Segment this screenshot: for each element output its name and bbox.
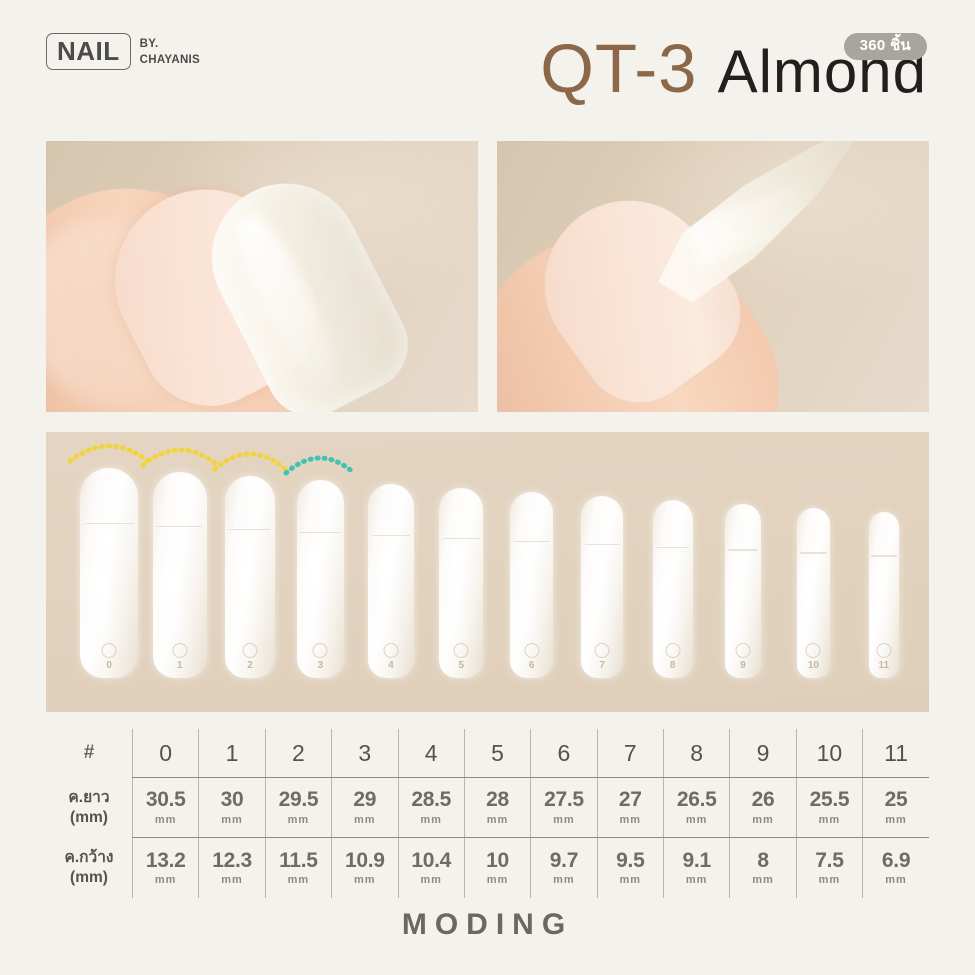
cell-3: 10.9mm bbox=[332, 838, 398, 898]
cell-2: 29.5mm bbox=[265, 778, 331, 838]
cell-value: 8 bbox=[730, 850, 795, 872]
header-hash: # bbox=[46, 729, 133, 778]
nail-tip-emboss-mark bbox=[665, 643, 680, 658]
cell-unit: mm bbox=[598, 814, 663, 826]
nail-tip-size-label: 11 bbox=[869, 660, 899, 671]
cell-7: 9.5mm bbox=[597, 838, 663, 898]
cell-unit: mm bbox=[266, 814, 331, 826]
cell-1: 12.3mm bbox=[199, 838, 265, 898]
highlight-arc-yellow bbox=[212, 446, 289, 472]
cell-6: 9.7mm bbox=[531, 838, 597, 898]
row-label-line2: (mm) bbox=[46, 868, 132, 887]
cell-value: 9.7 bbox=[531, 850, 596, 872]
cell-value: 28.5 bbox=[399, 789, 464, 811]
table-row: ค.กว้าง(mm)13.2mm12.3mm11.5mm10.9mm10.4m… bbox=[46, 838, 929, 898]
size-chart-table: # 01234567891011 ค.ยาว(mm)30.5mm30mm29.5… bbox=[46, 729, 929, 898]
cell-1: 30mm bbox=[199, 778, 265, 838]
nail-tip-size-label: 4 bbox=[368, 660, 414, 671]
cell-value: 29.5 bbox=[266, 789, 331, 811]
cell-8: 26.5mm bbox=[664, 778, 730, 838]
logo-byline-name: CHAYANIS bbox=[140, 53, 200, 69]
cell-value: 25.5 bbox=[797, 789, 862, 811]
nail-tip-emboss-mark bbox=[243, 643, 258, 658]
cell-9: 26mm bbox=[730, 778, 796, 838]
nail-tips-row: 01234567891011 bbox=[74, 458, 919, 678]
cell-value: 25 bbox=[863, 789, 929, 811]
cell-unit: mm bbox=[199, 814, 264, 826]
nail-tip-size-label: 3 bbox=[297, 660, 345, 671]
cell-unit: mm bbox=[664, 874, 729, 886]
cell-value: 27 bbox=[598, 789, 663, 811]
nail-tip-1: 1 bbox=[153, 472, 207, 678]
cell-value: 26 bbox=[730, 789, 795, 811]
column-header-5: 5 bbox=[464, 729, 530, 778]
cell-unit: mm bbox=[598, 874, 663, 886]
cell-value: 29 bbox=[332, 789, 397, 811]
column-header-8: 8 bbox=[664, 729, 730, 778]
cell-unit: mm bbox=[531, 814, 596, 826]
table-row: ค.ยาว(mm)30.5mm30mm29.5mm29mm28.5mm28mm2… bbox=[46, 778, 929, 838]
cell-unit: mm bbox=[863, 814, 929, 826]
cell-11: 6.9mm bbox=[863, 838, 929, 898]
nail-tip-size-label: 8 bbox=[653, 660, 693, 671]
cell-value: 10.4 bbox=[399, 850, 464, 872]
nail-tip-emboss-mark bbox=[454, 643, 469, 658]
logo-text: NAIL bbox=[46, 33, 131, 70]
nail-tip-5: 5 bbox=[439, 488, 483, 678]
cell-unit: mm bbox=[730, 814, 795, 826]
column-header-4: 4 bbox=[398, 729, 464, 778]
nail-tip-emboss-mark bbox=[806, 643, 821, 658]
row-label-line1: ค.กว้าง bbox=[46, 848, 132, 867]
cell-6: 27.5mm bbox=[531, 778, 597, 838]
cell-unit: mm bbox=[399, 874, 464, 886]
column-header-1: 1 bbox=[199, 729, 265, 778]
nail-tip-11: 11 bbox=[869, 512, 899, 678]
logo-byline: BY. CHAYANIS bbox=[140, 37, 200, 68]
column-header-2: 2 bbox=[265, 729, 331, 778]
cell-0: 13.2mm bbox=[133, 838, 199, 898]
nail-tip-10: 10 bbox=[797, 508, 830, 678]
cell-unit: mm bbox=[133, 874, 198, 886]
nail-tip-size-label: 2 bbox=[225, 660, 276, 671]
cell-unit: mm bbox=[266, 874, 331, 886]
row-label: ค.ยาว(mm) bbox=[46, 778, 133, 838]
nail-tip-emboss-mark bbox=[876, 643, 891, 658]
page-header: NAIL BY. CHAYANIS QT-3 Almond 360 ชิ้น bbox=[0, 0, 975, 132]
column-header-11: 11 bbox=[863, 729, 929, 778]
cell-unit: mm bbox=[332, 874, 397, 886]
photo-almond-tip-side-view bbox=[497, 141, 929, 412]
cell-0: 30.5mm bbox=[133, 778, 199, 838]
cell-8: 9.1mm bbox=[664, 838, 730, 898]
cell-unit: mm bbox=[465, 814, 530, 826]
cell-4: 28.5mm bbox=[398, 778, 464, 838]
cell-unit: mm bbox=[332, 814, 397, 826]
cell-unit: mm bbox=[797, 814, 862, 826]
nail-tip-size-label: 9 bbox=[725, 660, 760, 671]
column-header-10: 10 bbox=[796, 729, 862, 778]
cell-value: 7.5 bbox=[797, 850, 862, 872]
logo-byline-prefix: BY. bbox=[140, 37, 200, 53]
cell-4: 10.4mm bbox=[398, 838, 464, 898]
nail-tip-8: 8 bbox=[653, 500, 693, 678]
cell-value: 11.5 bbox=[266, 850, 331, 872]
cell-unit: mm bbox=[399, 814, 464, 826]
nail-tip-6: 6 bbox=[510, 492, 553, 678]
cell-value: 26.5 bbox=[664, 789, 729, 811]
nail-tip-7: 7 bbox=[581, 496, 623, 678]
cell-value: 30 bbox=[199, 789, 264, 811]
nail-tip-2: 2 bbox=[225, 476, 276, 678]
cell-value: 12.3 bbox=[199, 850, 264, 872]
nail-tips-panel: 01234567891011 bbox=[46, 432, 929, 712]
nail-tip-size-label: 10 bbox=[797, 660, 830, 671]
row-label-line1: ค.ยาว bbox=[46, 788, 132, 807]
nail-tip-size-label: 6 bbox=[510, 660, 553, 671]
cell-unit: mm bbox=[797, 874, 862, 886]
nail-tip-size-label: 7 bbox=[581, 660, 623, 671]
cell-value: 28 bbox=[465, 789, 530, 811]
cell-unit: mm bbox=[664, 814, 729, 826]
nail-tip-4: 4 bbox=[368, 484, 414, 678]
brand-logo: NAIL BY. CHAYANIS bbox=[46, 33, 200, 70]
cell-unit: mm bbox=[730, 874, 795, 886]
cell-11: 25mm bbox=[863, 778, 929, 838]
photo-almond-tip-front-view bbox=[46, 141, 478, 412]
highlight-arc-yellow bbox=[67, 438, 151, 464]
cell-5: 10mm bbox=[464, 838, 530, 898]
table-header-row: # 01234567891011 bbox=[46, 729, 929, 778]
row-label-line2: (mm) bbox=[46, 808, 132, 827]
nail-tip-0: 0 bbox=[80, 468, 138, 678]
cell-value: 10 bbox=[465, 850, 530, 872]
nail-tip-emboss-mark bbox=[595, 643, 610, 658]
cell-value: 9.1 bbox=[664, 850, 729, 872]
quantity-badge: 360 ชิ้น bbox=[844, 33, 927, 60]
cell-unit: mm bbox=[133, 814, 198, 826]
nail-tip-emboss-mark bbox=[735, 643, 750, 658]
size-chart-head: # 01234567891011 bbox=[46, 729, 929, 778]
column-header-3: 3 bbox=[332, 729, 398, 778]
footer-brand: MODING bbox=[0, 908, 975, 942]
column-header-9: 9 bbox=[730, 729, 796, 778]
highlight-arc-teal bbox=[284, 450, 358, 476]
nail-tip-emboss-mark bbox=[172, 643, 187, 658]
column-header-7: 7 bbox=[597, 729, 663, 778]
cell-value: 9.5 bbox=[598, 850, 663, 872]
nail-tip-emboss-mark bbox=[313, 643, 328, 658]
cell-10: 25.5mm bbox=[796, 778, 862, 838]
cell-value: 10.9 bbox=[332, 850, 397, 872]
nail-tip-size-label: 0 bbox=[80, 660, 138, 671]
column-header-6: 6 bbox=[531, 729, 597, 778]
cell-3: 29mm bbox=[332, 778, 398, 838]
cell-value: 30.5 bbox=[133, 789, 198, 811]
cell-7: 27mm bbox=[597, 778, 663, 838]
cell-10: 7.5mm bbox=[796, 838, 862, 898]
cell-unit: mm bbox=[531, 874, 596, 886]
row-label: ค.กว้าง(mm) bbox=[46, 838, 133, 898]
cell-value: 13.2 bbox=[133, 850, 198, 872]
nail-tip-size-label: 5 bbox=[439, 660, 483, 671]
nail-tip-3: 3 bbox=[297, 480, 345, 678]
column-header-0: 0 bbox=[133, 729, 199, 778]
size-chart: # 01234567891011 ค.ยาว(mm)30.5mm30mm29.5… bbox=[46, 729, 929, 898]
cell-2: 11.5mm bbox=[265, 838, 331, 898]
cell-value: 6.9 bbox=[863, 850, 929, 872]
highlight-arc-yellow bbox=[140, 442, 220, 468]
cell-value: 27.5 bbox=[531, 789, 596, 811]
cell-unit: mm bbox=[199, 874, 264, 886]
size-chart-body: ค.ยาว(mm)30.5mm30mm29.5mm29mm28.5mm28mm2… bbox=[46, 778, 929, 898]
cell-9: 8mm bbox=[730, 838, 796, 898]
nail-tip-emboss-mark bbox=[383, 643, 398, 658]
nail-tip-emboss-mark bbox=[524, 643, 539, 658]
product-code: QT-3 bbox=[540, 34, 697, 103]
nail-tip-size-label: 1 bbox=[153, 660, 207, 671]
cell-unit: mm bbox=[863, 874, 929, 886]
nail-tip-9: 9 bbox=[725, 504, 760, 678]
cell-unit: mm bbox=[465, 874, 530, 886]
cell-5: 28mm bbox=[464, 778, 530, 838]
nail-tip-emboss-mark bbox=[102, 643, 117, 658]
